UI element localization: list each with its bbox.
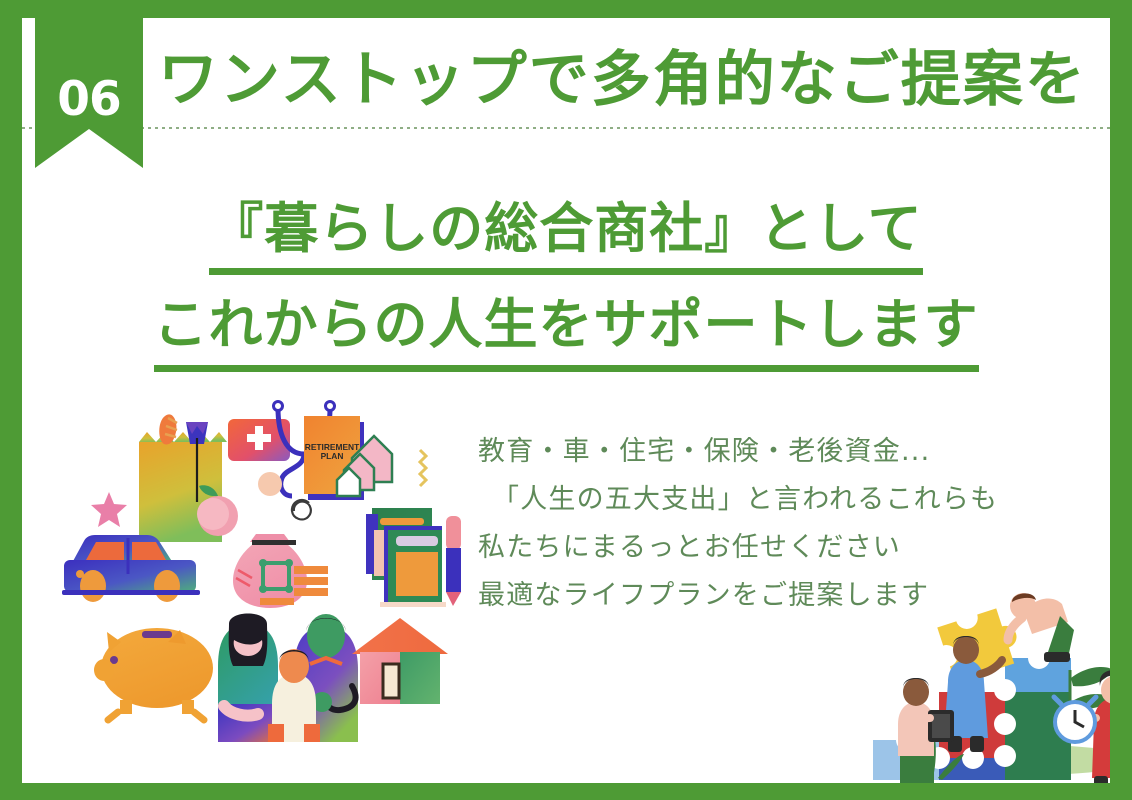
- retirement-book-label-line1: RETIREMENT: [305, 442, 360, 452]
- notebooks-icon: [366, 508, 446, 607]
- house-cards-icon: [337, 436, 392, 496]
- person-blue-dress: [944, 636, 1002, 752]
- subheading-line-2: これからの人生をサポートします: [154, 289, 979, 371]
- puzzle-pieces-icon: [873, 594, 1071, 780]
- leaf-plant-icon: [1070, 667, 1110, 714]
- person-with-clipboard: [898, 678, 954, 783]
- retirement-plan-book-icon: RETIREMENT PLAN: [304, 416, 364, 500]
- star-icon: [91, 492, 127, 527]
- body-line-1: 教育・車・住宅・保険・老後資金...: [478, 428, 1078, 476]
- illustration-svg: RETIREMENT PLAN: [22, 18, 1110, 783]
- alarm-clock-icon: [1054, 697, 1096, 742]
- section-number-label: 06: [57, 76, 120, 123]
- body-line-4: 最適なライフプランをご提案します: [478, 572, 1078, 620]
- illustration-layer: RETIREMENT PLAN: [22, 18, 1110, 783]
- pen-icon: [446, 516, 461, 606]
- person-with-clock: [1054, 670, 1110, 783]
- slide-root: 06 ワンストップで多角的なご提案を 『暮らしの総合商社』として これからの人生…: [0, 0, 1132, 800]
- coins-icon: [294, 566, 328, 596]
- subheading-block: 『暮らしの総合商社』として これからの人生をサポートします: [22, 193, 1110, 372]
- subheading-line-1-wrap: 『暮らしの総合商社』として: [22, 193, 1110, 275]
- first-aid-kit-icon: [228, 419, 290, 461]
- section-number-ribbon: 06: [35, 18, 143, 168]
- stethoscope-icon: [258, 402, 335, 497]
- puzzle-scene: [873, 593, 1110, 783]
- header-dotted-divider: [22, 127, 1110, 129]
- piggy-bank-icon: [94, 628, 213, 720]
- subheading-line-1: 『暮らしの総合商社』として: [209, 193, 922, 275]
- retirement-book-label-line2: PLAN: [321, 451, 344, 461]
- page-title: ワンストップで多角的なご提案を: [158, 50, 1098, 110]
- body-line-2: 「人生の五大支出」と言われるこれらも: [478, 476, 1078, 524]
- car-icon: [62, 535, 200, 602]
- slide-canvas: 06 ワンストップで多角的なご提案を 『暮らしの総合商社』として これからの人生…: [22, 18, 1110, 783]
- family-group-icon: [218, 614, 358, 743]
- grocery-bag-icon: [139, 414, 238, 542]
- subheading-line-2-wrap: これからの人生をサポートします: [22, 289, 1110, 371]
- body-line-3: 私たちにまるっとお任せください: [478, 524, 1078, 572]
- body-paragraph: 教育・車・住宅・保険・老後資金... 「人生の五大支出」と言われるこれらも 私た…: [478, 428, 1078, 620]
- house-icon: [352, 618, 448, 704]
- grass-icon: [907, 738, 964, 780]
- squiggle-icon: [420, 450, 426, 486]
- money-bag-icon: [233, 534, 307, 608]
- coins-stack-icon: [260, 598, 294, 605]
- spiral-icon: [292, 500, 311, 520]
